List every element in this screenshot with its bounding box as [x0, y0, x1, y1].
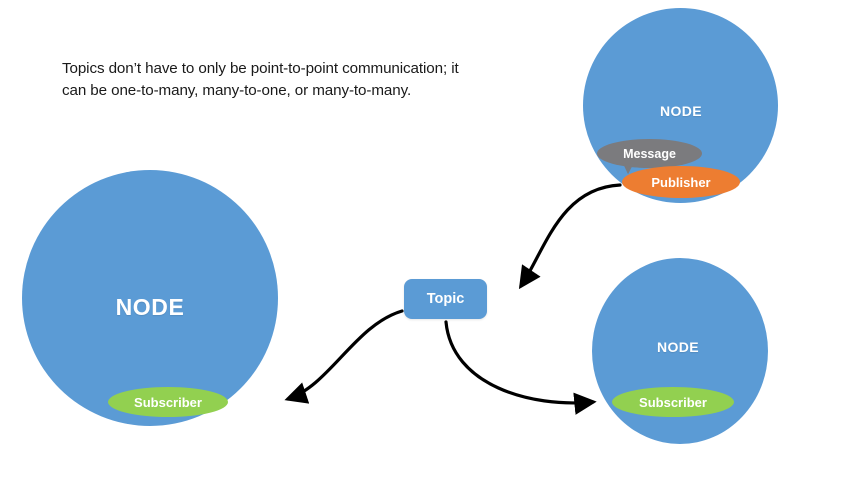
node-label-left: NODE [116, 294, 185, 321]
topic-box[interactable]: Topic [404, 279, 487, 319]
diagram-canvas: Topics don’t have to only be point-to-po… [0, 0, 854, 480]
caption-text: Topics don’t have to only be point-to-po… [62, 58, 482, 103]
publisher-pill[interactable]: Publisher [622, 166, 740, 198]
connector-publisher-to-topic [521, 185, 620, 286]
connector-topic-to-subscriber-right [446, 322, 593, 403]
node-label-bottom-right: NODE [657, 339, 699, 355]
subscriber-pill-left[interactable]: Subscriber [108, 387, 228, 417]
node-label-top: NODE [660, 103, 702, 119]
subscriber-pill-right[interactable]: Subscriber [612, 387, 734, 417]
connector-topic-to-subscriber-left [288, 311, 402, 399]
message-pill[interactable]: Message [597, 139, 702, 168]
